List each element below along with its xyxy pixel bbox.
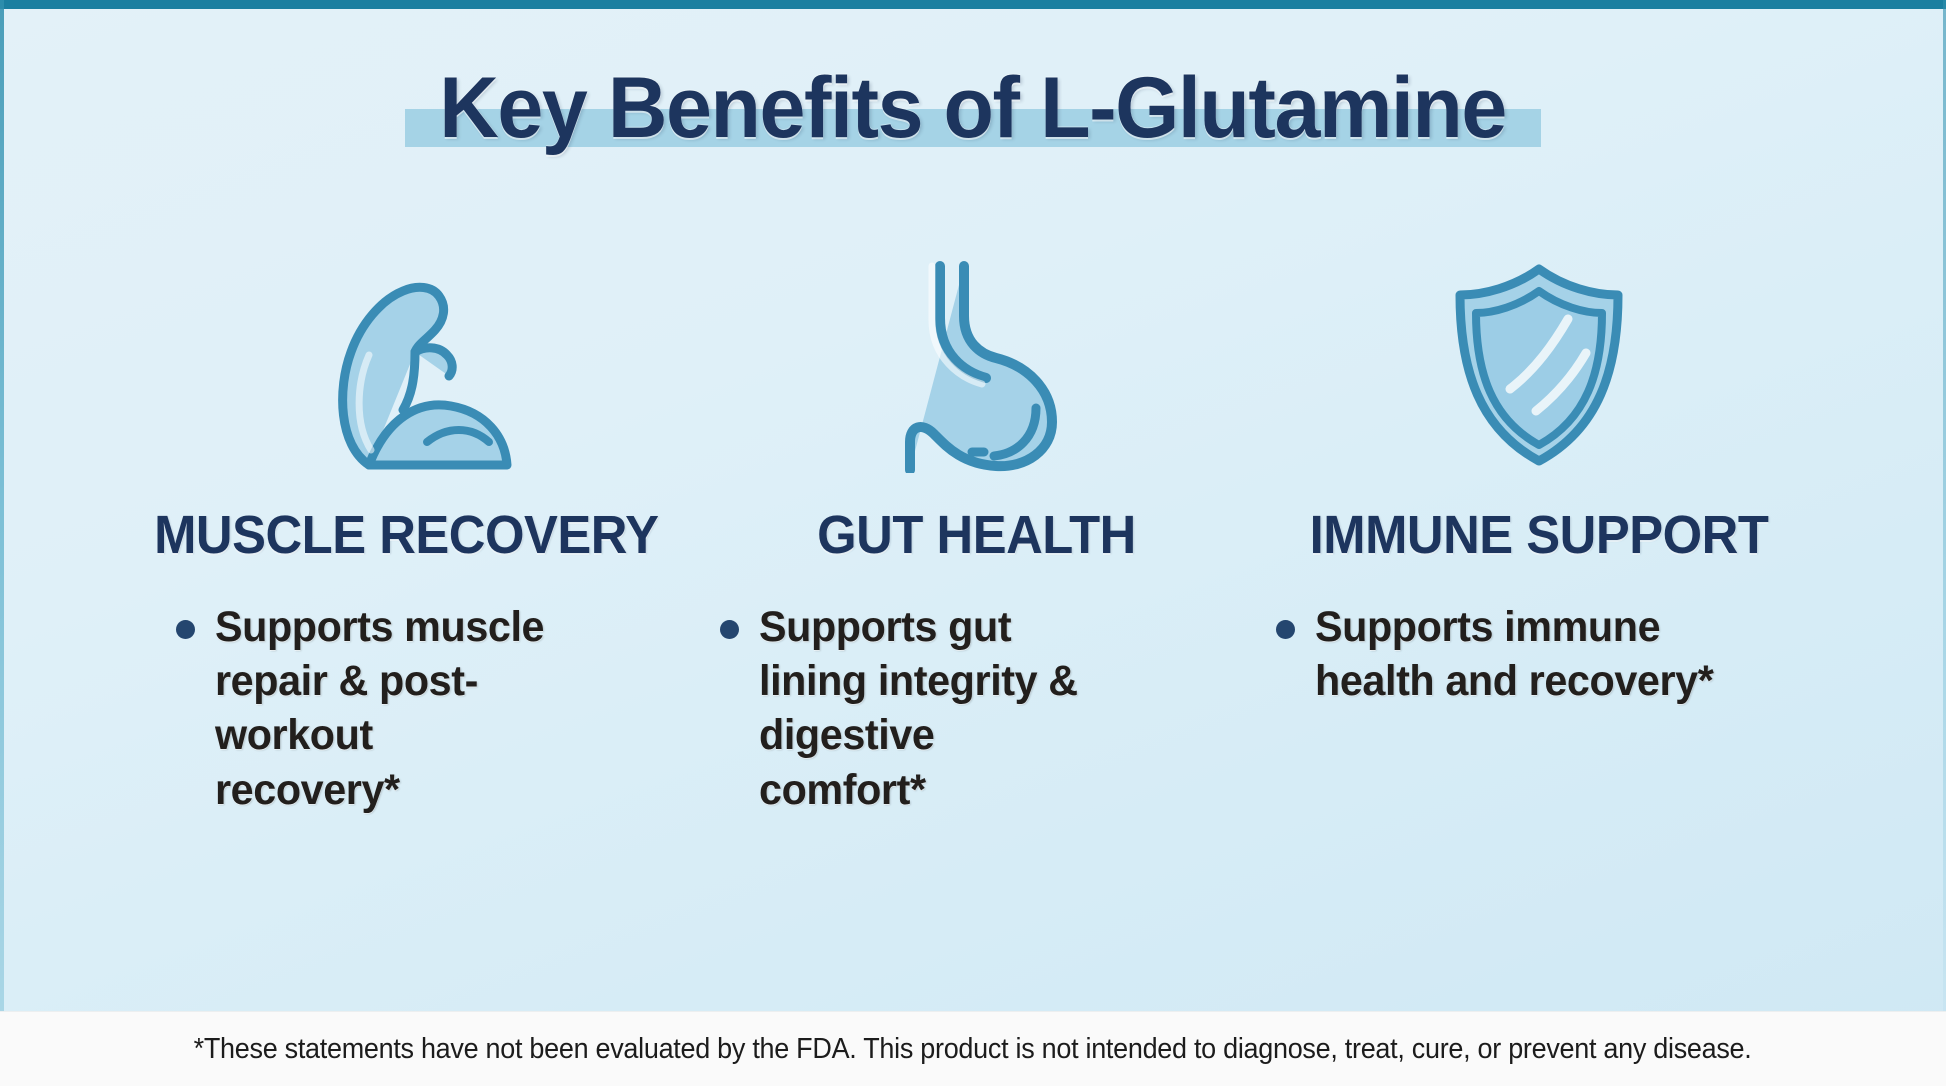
shield-icon bbox=[1444, 250, 1634, 480]
benefit-column-gut-health: GUT HEALTH Supports gut lining integrity… bbox=[693, 250, 1253, 817]
flexed-bicep-icon bbox=[299, 250, 514, 480]
column-heading: MUSCLE RECOVERY bbox=[154, 504, 658, 566]
bullet-dot-icon bbox=[176, 620, 195, 639]
top-accent-bar bbox=[0, 0, 1946, 9]
column-heading: GUT HEALTH bbox=[817, 504, 1136, 566]
bullet-text: Supports gut lining integrity & digestiv… bbox=[759, 600, 1105, 817]
bullet-item: Supports immune health and recovery* bbox=[1254, 600, 1824, 708]
disclaimer-text: *These statements have not been evaluate… bbox=[194, 1033, 1752, 1066]
bullet-dot-icon bbox=[1276, 620, 1295, 639]
bullet-dot-icon bbox=[720, 620, 739, 639]
benefit-column-muscle-recovery: MUSCLE RECOVERY Supports muscle repair &… bbox=[133, 250, 693, 817]
bullet-item: Supports gut lining integrity & digestiv… bbox=[678, 600, 1274, 817]
page-title: Key Benefits of L-Glutamine bbox=[440, 62, 1507, 155]
infographic-poster: Key Benefits of L-Glutamine bbox=[0, 0, 1946, 1086]
bullet-text: Supports immune health and recovery* bbox=[1315, 600, 1718, 708]
benefits-row: MUSCLE RECOVERY Supports muscle repair &… bbox=[0, 250, 1946, 950]
stomach-icon bbox=[876, 250, 1076, 480]
title-block: Key Benefits of L-Glutamine bbox=[0, 62, 1946, 155]
footer-disclaimer-bar: *These statements have not been evaluate… bbox=[0, 1011, 1946, 1086]
column-heading: IMMUNE SUPPORT bbox=[1310, 504, 1769, 566]
bullet-text: Supports muscle repair & post-workout re… bbox=[215, 600, 561, 817]
benefit-column-immune-support: IMMUNE SUPPORT Supports immune health an… bbox=[1253, 250, 1813, 708]
title-inner: Key Benefits of L-Glutamine bbox=[405, 62, 1540, 155]
bullet-item: Supports muscle repair & post-workout re… bbox=[90, 600, 722, 817]
